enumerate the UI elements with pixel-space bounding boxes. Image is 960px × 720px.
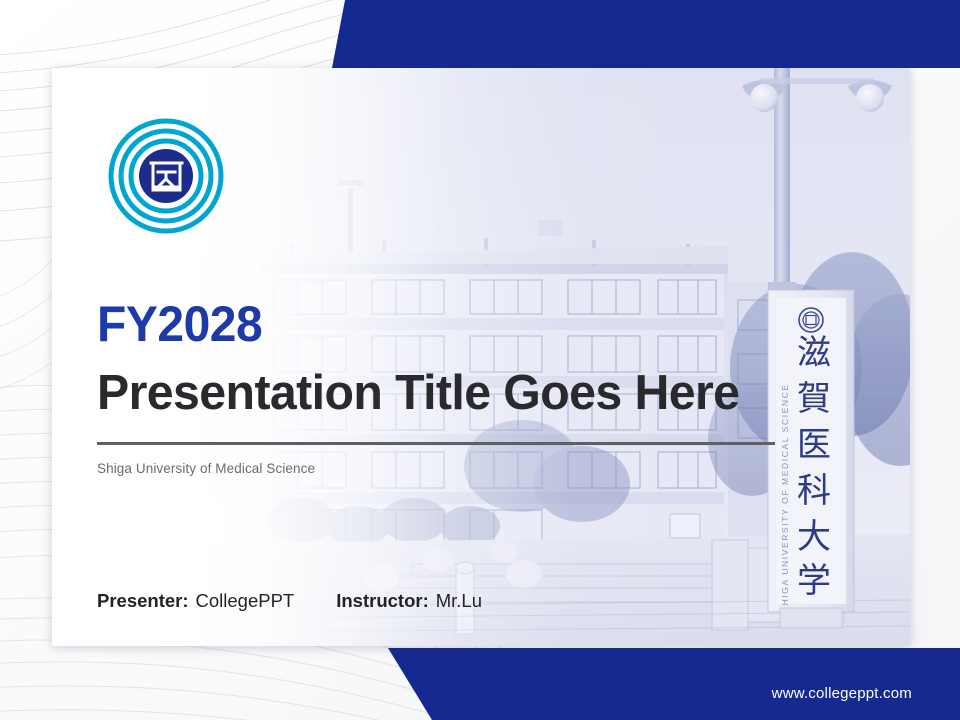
presenter-value: CollegePPT [196,590,295,612]
presenter-label: Presenter: [97,590,189,612]
university-subtitle: Shiga University of Medical Science [97,460,857,478]
footer-website-url[interactable]: www.collegeppt.com [772,685,912,702]
presenter-instructor-row: Presenter: CollegePPT Instructor: Mr.Lu [97,590,482,612]
instructor-field: Instructor: Mr.Lu [336,590,482,612]
slide-card: 滋 賀 医 科 大 学 SHIGA UNIVERSITY OF MEDICAL … [52,68,910,646]
presenter-field: Presenter: CollegePPT [97,590,294,612]
page-title: Presentation Title Goes Here [97,364,846,422]
presentation-slide: 滋 賀 医 科 大 学 SHIGA UNIVERSITY OF MEDICAL … [0,0,960,720]
instructor-label: Instructor: [336,590,429,612]
title-block: FY2028 Presentation Title Goes Here Shig… [97,296,857,478]
fiscal-year-heading: FY2028 [97,296,827,352]
university-logo-icon [108,118,224,234]
title-divider [97,442,775,445]
instructor-value: Mr.Lu [436,590,482,612]
